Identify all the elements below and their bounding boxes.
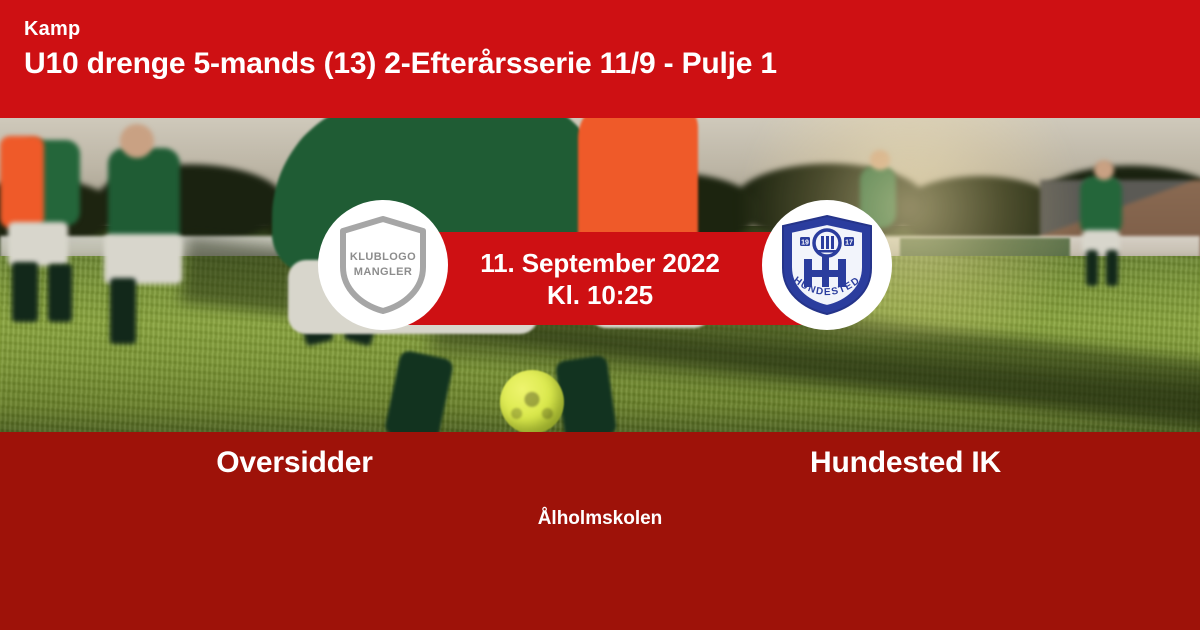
photo-foreground-leg <box>555 355 618 432</box>
placeholder-line-2: MANGLER <box>350 265 416 280</box>
photo-player-shorts <box>8 222 68 266</box>
match-venue: Ålholmskolen <box>0 508 1200 530</box>
hundested-crest-icon: 19 17 HUNDESTED <box>776 212 878 318</box>
football-seams <box>500 370 564 432</box>
match-time: Kl. 10:25 <box>547 279 653 311</box>
club-logo-placeholder-text: KLUBLOGO MANGLER <box>350 250 416 280</box>
poster-header: Kamp U10 drenge 5-mands (13) 2-Efterårss… <box>0 0 1200 118</box>
match-date: 11. September 2022 <box>480 247 720 279</box>
photo-player-sock <box>110 278 136 344</box>
header-kicker: Kamp <box>24 18 1176 40</box>
photo-player-shorts <box>104 234 182 284</box>
home-team-name: Oversidder <box>0 446 601 480</box>
teams-row: Oversidder Hundested IK <box>0 446 1200 480</box>
poster-footer-band: Oversidder Hundested IK Ålholmskolen DBU… <box>0 432 1200 630</box>
match-poster: Kamp U10 drenge 5-mands (13) 2-Efterårss… <box>0 0 1200 630</box>
match-date-banner: 11. September 2022 Kl. 10:25 <box>398 232 802 325</box>
photo-player-bib <box>0 136 44 228</box>
page-title: U10 drenge 5-mands (13) 2-Efterårsserie … <box>24 46 1176 82</box>
placeholder-line-1: KLUBLOGO <box>350 250 416 265</box>
crest-year-left: 19 <box>801 240 809 247</box>
photo-player-sock <box>48 264 72 322</box>
crest-year-right: 17 <box>845 240 853 247</box>
photo-player-sock <box>12 262 38 322</box>
club-logo-placeholder-shield: KLUBLOGO MANGLER <box>337 215 429 315</box>
away-team-name: Hundested IK <box>601 446 1200 480</box>
photo-player-torso <box>108 148 180 240</box>
photo-player-head <box>120 124 154 158</box>
home-club-logo[interactable]: KLUBLOGO MANGLER <box>318 200 448 330</box>
away-club-logo[interactable]: 19 17 HUNDESTED <box>762 200 892 330</box>
